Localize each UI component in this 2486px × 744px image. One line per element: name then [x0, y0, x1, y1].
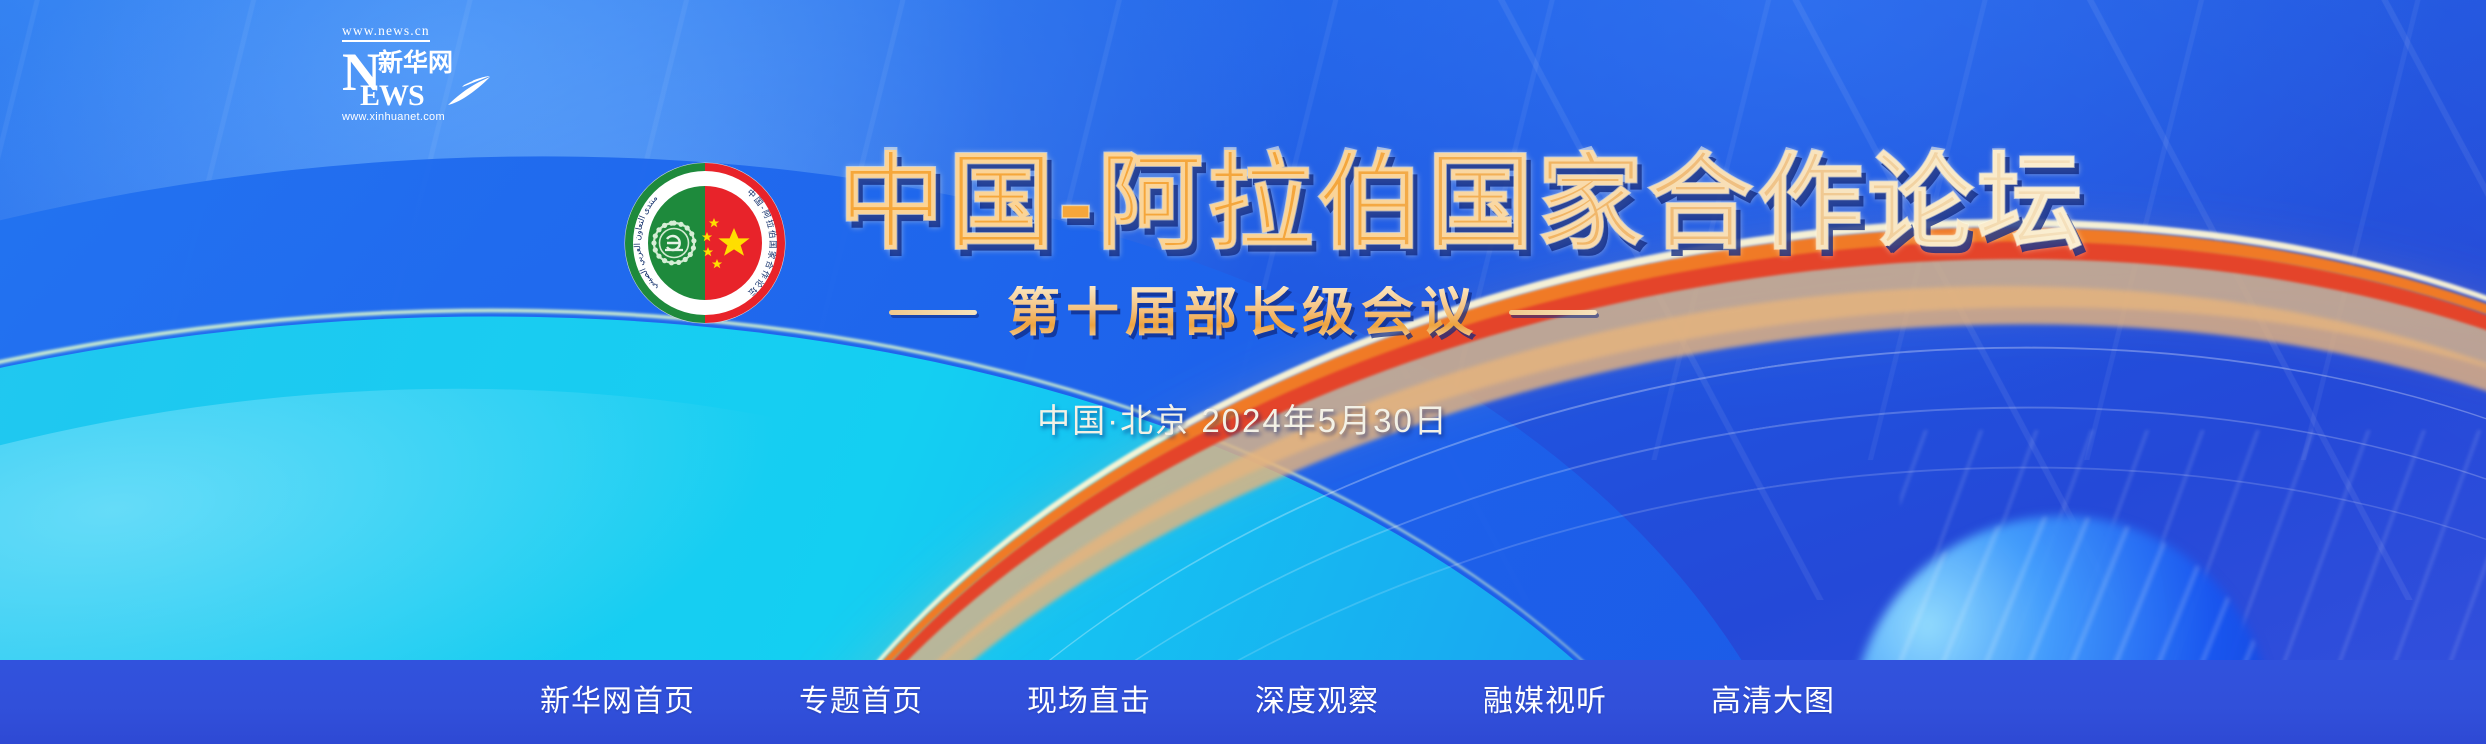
swoosh-icon	[446, 75, 492, 107]
logo-url-top: www.news.cn	[342, 24, 430, 42]
nav-items-container: 新华网首页 专题首页 现场直击 深度观察 融媒视听 高清大图	[540, 687, 1835, 717]
page-subtitle: 第十届部长级会议	[1007, 286, 1479, 339]
background-light-sweep-left	[0, 0, 1763, 744]
logo-brand-cn: 新华网	[378, 51, 453, 76]
subtitle-row: 第十届部长级会议	[0, 286, 2486, 339]
nav-item-in-depth[interactable]: 深度观察	[1255, 687, 1379, 717]
main-navigation: 新华网首页 专题首页 现场直击 深度观察 融媒视听 高清大图	[0, 660, 2486, 744]
nav-item-topic-home[interactable]: 专题首页	[799, 687, 923, 717]
logo-wordmark: N 新华网 EWS	[342, 45, 490, 111]
nav-item-xinhua-home[interactable]: 新华网首页	[540, 687, 695, 717]
background-light-sweep-right	[0, 0, 1819, 744]
event-location-date: 中国·北京 2024年5月30日	[0, 404, 2486, 437]
logo-word-news: EWS	[360, 81, 424, 111]
logo-url-bottom: www.xinhuanet.com	[342, 112, 490, 123]
nav-item-media-video[interactable]: 融媒视听	[1483, 687, 1607, 717]
background-wedge-right	[1238, 0, 2486, 736]
dash-left	[889, 310, 977, 315]
nav-item-hd-photos[interactable]: 高清大图	[1711, 687, 1835, 717]
xinhua-logo[interactable]: www.news.cn N 新华网 EWS www.xinhuanet.com	[342, 22, 490, 128]
nav-item-live-scene[interactable]: 现场直击	[1027, 687, 1151, 717]
dash-right	[1509, 310, 1597, 315]
blue-ribbon-shape	[0, 0, 1968, 744]
page-title: 中国-阿拉伯国家合作论坛	[838, 150, 2087, 256]
event-banner: www.news.cn N 新华网 EWS www.xinhuanet.com	[0, 0, 2486, 744]
